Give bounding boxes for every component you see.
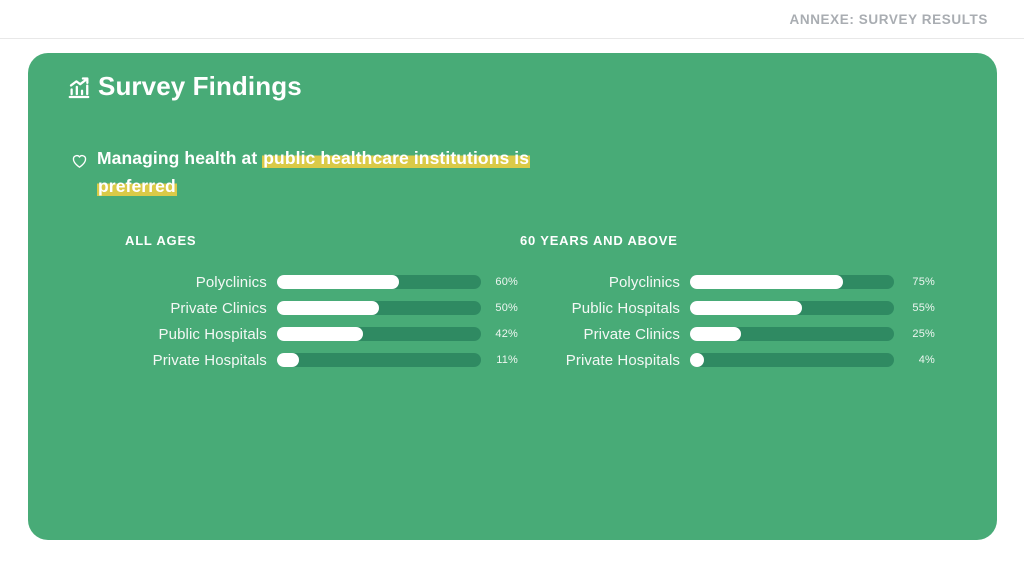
bar-label: Public Hospitals <box>125 326 277 343</box>
bar-track <box>690 301 894 315</box>
bar-fill <box>690 301 802 315</box>
bar-track <box>690 353 894 367</box>
subtitle-plain-part: Managing health at <box>97 148 262 168</box>
bar-track <box>690 327 894 341</box>
survey-findings-card: Survey Findings Managing health at publi… <box>28 53 997 540</box>
bar-row: Public Hospitals 42% <box>125 321 518 347</box>
bar-fill <box>277 353 299 367</box>
bar-row: Public Hospitals 55% <box>520 295 997 321</box>
panel-heading-60-years-and-above: 60 YEARS AND ABOVE <box>520 233 997 248</box>
bar-track <box>277 327 481 341</box>
bar-track <box>277 353 481 367</box>
bar-label: Private Hospitals <box>125 352 277 369</box>
bar-row: Private Hospitals 4% <box>520 347 997 373</box>
chart-columns: ALL AGES Polyclinics 60% Private Clinics… <box>28 233 997 373</box>
bar-row: Private Clinics 50% <box>125 295 518 321</box>
bar-row: Polyclinics 60% <box>125 269 518 295</box>
bar-row: Private Hospitals 11% <box>125 347 518 373</box>
bar-track <box>277 301 481 315</box>
heart-icon <box>70 151 89 170</box>
panel-all-ages: ALL AGES Polyclinics 60% Private Clinics… <box>28 233 518 373</box>
bar-row: Private Clinics 25% <box>520 321 997 347</box>
bar-percent-label: 50% <box>481 302 518 314</box>
bar-fill <box>277 275 399 289</box>
page-title: Survey Findings <box>98 71 302 102</box>
bar-percent-label: 11% <box>481 354 518 366</box>
bar-track <box>690 275 894 289</box>
panel-heading-all-ages: ALL AGES <box>125 233 518 248</box>
bar-percent-label: 25% <box>894 328 935 340</box>
bar-percent-label: 4% <box>894 354 935 366</box>
bar-fill <box>277 327 363 341</box>
bar-fill <box>690 327 741 341</box>
bar-track <box>277 275 481 289</box>
bar-percent-label: 55% <box>894 302 935 314</box>
bar-label: Public Hospitals <box>520 300 690 317</box>
annexe-label: ANNEXE: SURVEY RESULTS <box>790 12 1024 27</box>
top-header-bar: ANNEXE: SURVEY RESULTS <box>0 0 1024 39</box>
bar-label: Private Hospitals <box>520 352 690 369</box>
bar-label: Polyclinics <box>520 274 690 291</box>
chart-line-up-icon <box>66 75 92 101</box>
bar-percent-label: 42% <box>481 328 518 340</box>
subtitle-text: Managing health at public healthcare ins… <box>97 145 540 200</box>
bar-percent-label: 60% <box>481 276 518 288</box>
panel-60-years-and-above: 60 YEARS AND ABOVE Polyclinics 75% Publi… <box>518 233 997 373</box>
subtitle-row: Managing health at public healthcare ins… <box>70 145 540 200</box>
bar-label: Private Clinics <box>125 300 277 317</box>
card-title-row: Survey Findings <box>66 71 302 102</box>
bar-label: Private Clinics <box>520 326 690 343</box>
bar-label: Polyclinics <box>125 274 277 291</box>
bar-row: Polyclinics 75% <box>520 269 997 295</box>
bar-fill <box>690 275 843 289</box>
bar-fill <box>277 301 379 315</box>
bar-fill <box>690 353 704 367</box>
bar-percent-label: 75% <box>894 276 935 288</box>
